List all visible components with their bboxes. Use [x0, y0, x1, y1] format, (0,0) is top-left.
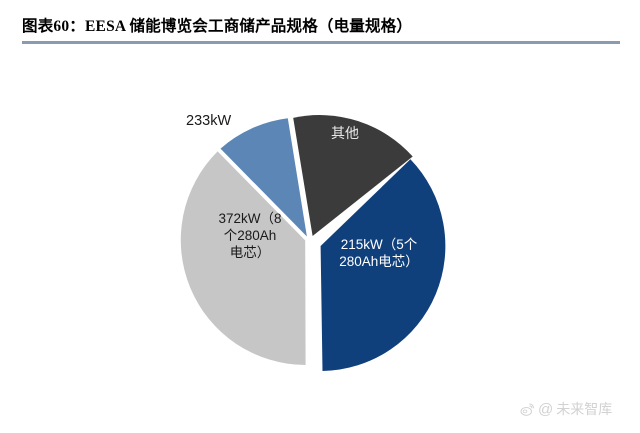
page-title: 图表60：EESA 储能博览会工商储产品规格（电量规格）: [22, 16, 620, 38]
pie-label-233kw: 233kW: [186, 113, 231, 130]
watermark-text: 未来智库: [556, 399, 612, 419]
pie-label-other: 其他: [312, 126, 378, 143]
figure-title-block: 图表60：EESA 储能博览会工商储产品规格（电量规格）: [22, 16, 620, 46]
weibo-icon: [520, 402, 535, 417]
pie-chart-area: 233kW 372kW（8 个280Ah 电芯） 215kW（5个 280Ah电…: [0, 50, 640, 390]
pie-label-372kw: 372kW（8 个280Ah 电芯）: [198, 210, 302, 261]
watermark-at-symbol: @: [538, 402, 553, 417]
pie-label-215kw: 215kW（5个 280Ah电芯）: [320, 236, 438, 270]
title-underline-rule: [22, 41, 620, 44]
watermark: @ 未来智库: [520, 399, 612, 419]
pie-chart-svg: [0, 50, 640, 390]
